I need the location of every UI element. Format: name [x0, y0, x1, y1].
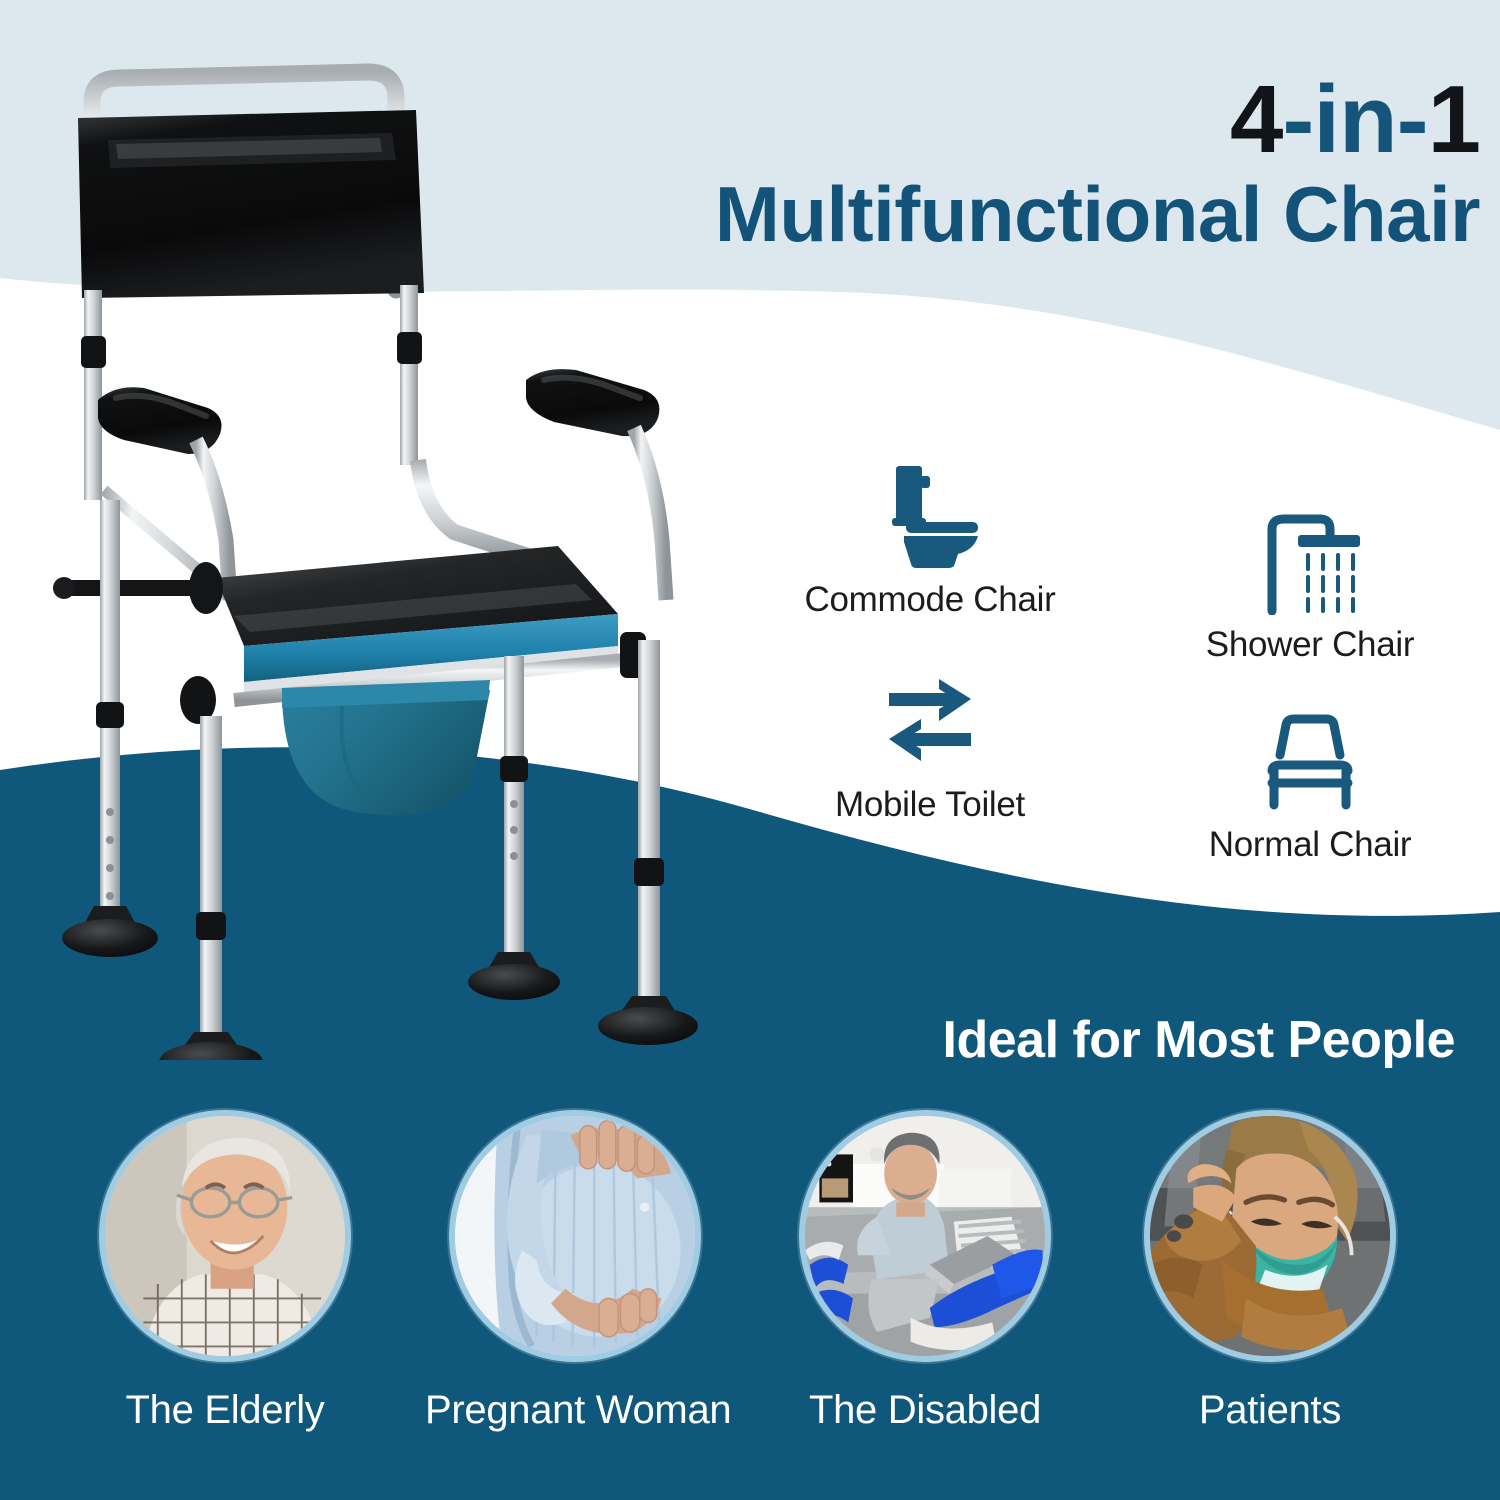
backrest	[78, 110, 424, 298]
hero-line-1: 4-in-1	[600, 70, 1480, 171]
feature-label: Commode Chair	[760, 580, 1100, 620]
suction-feet	[62, 906, 698, 1060]
feature-label: Mobile Toilet	[760, 785, 1100, 825]
feature-label: Normal Chair	[1140, 825, 1480, 865]
person-label: The Disabled	[775, 1388, 1075, 1433]
chair-icon	[1140, 705, 1480, 815]
person-label: Pregnant Woman	[425, 1388, 725, 1433]
side-lever	[53, 562, 223, 614]
person-card: The Disabled	[775, 1110, 1075, 1433]
ideal-section-title: Ideal for Most People	[943, 1010, 1455, 1070]
person-card: Pregnant Woman	[425, 1110, 725, 1433]
pregnant-woman-belly-photo	[449, 1110, 701, 1362]
feature-commode-chair: Commode Chair	[760, 460, 1100, 620]
shower-head-icon	[1140, 505, 1480, 615]
hero-number-1: 1	[1428, 66, 1480, 173]
hero-heading: 4-in-1 Multifunctional Chair	[600, 70, 1480, 258]
toilet-icon	[760, 460, 1100, 570]
person-label: Patients	[1120, 1388, 1420, 1433]
person-card: The Elderly	[75, 1110, 375, 1433]
poster-canvas: 4-in-1 Multifunctional Chair Commode Cha…	[0, 0, 1500, 1500]
feature-mobile-toilet: Mobile Toilet	[760, 665, 1100, 825]
seat	[216, 546, 624, 702]
feature-list: Commode Chair	[740, 460, 1500, 910]
man-with-leg-cast-laptop-photo	[799, 1110, 1051, 1362]
people-row: The Elderly	[0, 1110, 1500, 1490]
feature-label: Shower Chair	[1140, 625, 1480, 665]
hero-in: -in-	[1282, 66, 1427, 173]
commode-bucket	[282, 680, 490, 815]
elderly-man-smiling-photo	[99, 1110, 351, 1362]
feature-normal-chair: Normal Chair	[1140, 705, 1480, 865]
woman-with-mask-coughing-photo	[1144, 1110, 1396, 1362]
hero-number-4: 4	[1230, 66, 1282, 173]
person-label: The Elderly	[75, 1388, 375, 1433]
person-card: Patients	[1120, 1110, 1420, 1433]
hero-line-2: Multifunctional Chair	[600, 171, 1480, 258]
two-way-arrows-icon	[760, 665, 1100, 775]
feature-shower-chair: Shower Chair	[1140, 505, 1480, 665]
